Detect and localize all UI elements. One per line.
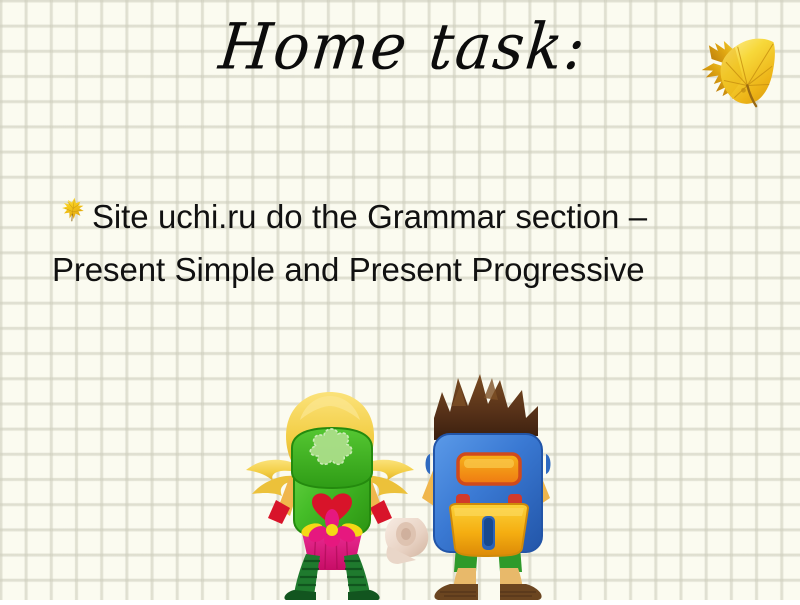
paper-scroll [385,518,428,564]
title-block: Home task: [0,18,800,81]
maple-leaf-bullet-icon [58,194,87,223]
body-text-block: Site uchi.ru do the Grammar section – Pr… [52,190,752,297]
boy-figure [422,374,551,600]
body-text: Site uchi.ru do the Grammar section – Pr… [52,190,752,297]
girl-figure [246,392,414,600]
slide-canvas: Home task: [0,0,800,600]
page-title: Home task: [216,14,590,81]
two-school-kids-illustration [238,348,598,600]
